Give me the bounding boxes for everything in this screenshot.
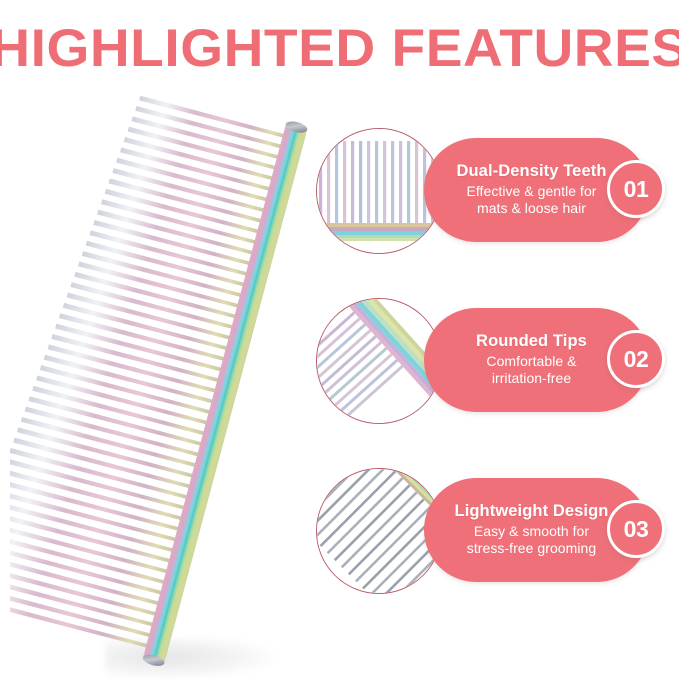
feature-3-description-line-2: stress-free grooming bbox=[467, 540, 596, 557]
feature-1-description-line-2: mats & loose hair bbox=[477, 200, 586, 217]
feature-1-text: Dual-Density Teeth Effective & gentle fo… bbox=[444, 138, 619, 242]
feature-3-number-badge: 03 bbox=[607, 500, 665, 558]
product-image bbox=[10, 60, 320, 670]
feature-1-number-badge: 01 bbox=[607, 160, 665, 218]
comb-teeth-closeup-icon bbox=[317, 129, 441, 253]
feature-2-pill[interactable]: Rounded Tips Comfortable & irritation-fr… bbox=[424, 308, 649, 412]
comb-spine-rounded-end-icon bbox=[317, 299, 441, 423]
feature-2-number-badge: 02 bbox=[607, 330, 665, 388]
feature-3-pill[interactable]: Lightweight Design Easy & smooth for str… bbox=[424, 478, 649, 582]
feature-row-1: Dual-Density Teeth Effective & gentle fo… bbox=[312, 122, 679, 262]
comb-diagonal-teeth-icon bbox=[317, 469, 441, 593]
feature-1-title: Dual-Density Teeth bbox=[456, 162, 606, 181]
feature-2-description-line-1: Comfortable & bbox=[486, 353, 576, 370]
comb-illustration bbox=[10, 60, 320, 670]
feature-3-title: Lightweight Design bbox=[455, 502, 609, 521]
feature-row-2: Rounded Tips Comfortable & irritation-fr… bbox=[312, 292, 679, 432]
feature-3-description-line-1: Easy & smooth for bbox=[474, 523, 589, 540]
infographic-page: HIGHLIGHTED FEATURES bbox=[0, 0, 679, 679]
feature-3-text: Lightweight Design Easy & smooth for str… bbox=[444, 478, 619, 582]
feature-1-description-line-1: Effective & gentle for bbox=[466, 183, 596, 200]
feature-row-3: Lightweight Design Easy & smooth for str… bbox=[312, 462, 679, 602]
feature-1-pill[interactable]: Dual-Density Teeth Effective & gentle fo… bbox=[424, 138, 649, 242]
feature-2-title: Rounded Tips bbox=[476, 332, 587, 351]
feature-2-description-line-2: irritation-free bbox=[492, 370, 571, 387]
feature-2-text: Rounded Tips Comfortable & irritation-fr… bbox=[444, 308, 619, 412]
